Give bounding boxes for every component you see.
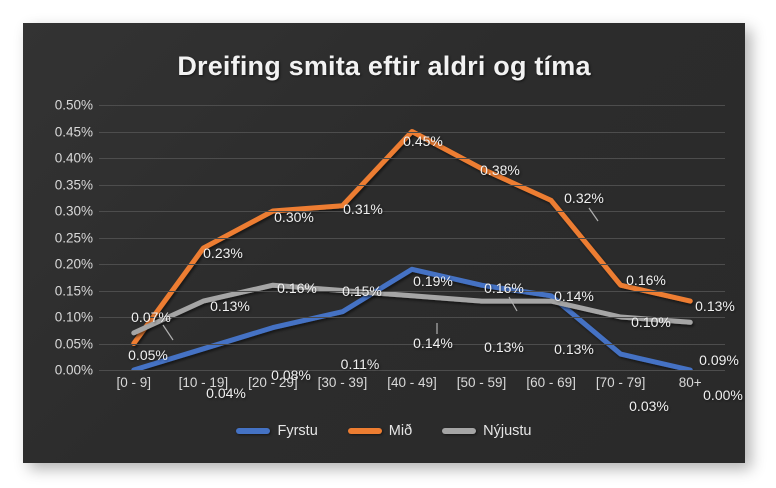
x-axis: [0 - 9][10 - 19][20 - 29][30 - 39][40 - … (99, 375, 725, 397)
gridline (99, 344, 725, 345)
gridline (99, 291, 725, 292)
data-label: 0.16% (484, 280, 524, 296)
gridline (99, 238, 725, 239)
x-axis-tick-label: [60 - 69] (526, 375, 576, 390)
data-label: 0.09% (699, 352, 739, 368)
gridline (99, 158, 725, 159)
data-label: 0.07% (131, 309, 171, 325)
legend-item-mið[interactable]: Mið (348, 423, 412, 439)
legend-label: Mið (389, 423, 412, 439)
y-axis-tick-label: 0.50% (27, 98, 93, 113)
legend-swatch-icon (348, 428, 382, 434)
gridline (99, 370, 725, 371)
chart-title: Dreifing smita eftir aldri og tíma (23, 51, 745, 82)
legend-item-fyrstu[interactable]: Fyrstu (236, 423, 317, 439)
data-label: 0.13% (695, 298, 735, 314)
data-label: 0.32% (564, 190, 604, 206)
data-label: 0.14% (554, 288, 594, 304)
x-axis-tick-label: [50 - 59] (457, 375, 507, 390)
legend-label: Nýjustu (483, 423, 531, 439)
data-label: 0.14% (413, 335, 453, 351)
x-axis-tick-label: [20 - 29] (248, 375, 298, 390)
y-axis-tick-label: 0.35% (27, 177, 93, 192)
gridline (99, 185, 725, 186)
data-label: 0.23% (203, 245, 243, 261)
series-line-fyrstu (134, 269, 690, 370)
data-label: 0.10% (631, 314, 671, 330)
legend-swatch-icon (236, 428, 270, 434)
y-axis-tick-label: 0.05% (27, 336, 93, 351)
gridline (99, 211, 725, 212)
data-label: 0.13% (484, 339, 524, 355)
y-axis-tick-label: 0.25% (27, 230, 93, 245)
legend-label: Fyrstu (277, 423, 317, 439)
data-label: 0.38% (480, 162, 520, 178)
y-axis-tick-label: 0.20% (27, 257, 93, 272)
data-label: 0.11% (341, 356, 380, 372)
x-axis-tick-label: [10 - 19] (179, 375, 229, 390)
y-axis: 0.50%0.45%0.40%0.35%0.30%0.25%0.20%0.15%… (23, 105, 93, 370)
data-label: 0.19% (413, 273, 453, 289)
x-axis-tick-label: [0 - 9] (117, 375, 152, 390)
gridline (99, 105, 725, 106)
data-label: 0.45% (403, 133, 443, 149)
data-label: 0.15% (342, 283, 382, 299)
data-label: 0.16% (277, 280, 317, 296)
gridline (99, 264, 725, 265)
y-axis-tick-label: 0.30% (27, 204, 93, 219)
x-axis-tick-label: [30 - 39] (318, 375, 368, 390)
data-label: 0.30% (274, 209, 314, 225)
chart-legend: FyrstuMiðNýjustu (23, 423, 745, 439)
data-label: 0.03% (629, 398, 669, 414)
y-axis-tick-label: 0.45% (27, 124, 93, 139)
y-axis-tick-label: 0.15% (27, 283, 93, 298)
y-axis-tick-label: 0.40% (27, 151, 93, 166)
legend-swatch-icon (442, 428, 476, 434)
x-axis-tick-label: [40 - 49] (387, 375, 437, 390)
x-axis-tick-label: [70 - 79] (596, 375, 646, 390)
data-label: 0.13% (554, 341, 594, 357)
data-label: 0.16% (626, 272, 666, 288)
data-label: 0.05% (128, 347, 168, 363)
data-label: 0.13% (210, 298, 250, 314)
legend-item-nýjustu[interactable]: Nýjustu (442, 423, 531, 439)
chart-panel: Dreifing smita eftir aldri og tíma 0.50%… (23, 23, 745, 463)
x-axis-tick-label: 80+ (679, 375, 702, 390)
y-axis-tick-label: 0.00% (27, 363, 93, 378)
y-axis-tick-label: 0.10% (27, 310, 93, 325)
data-label: 0.31% (343, 201, 383, 217)
